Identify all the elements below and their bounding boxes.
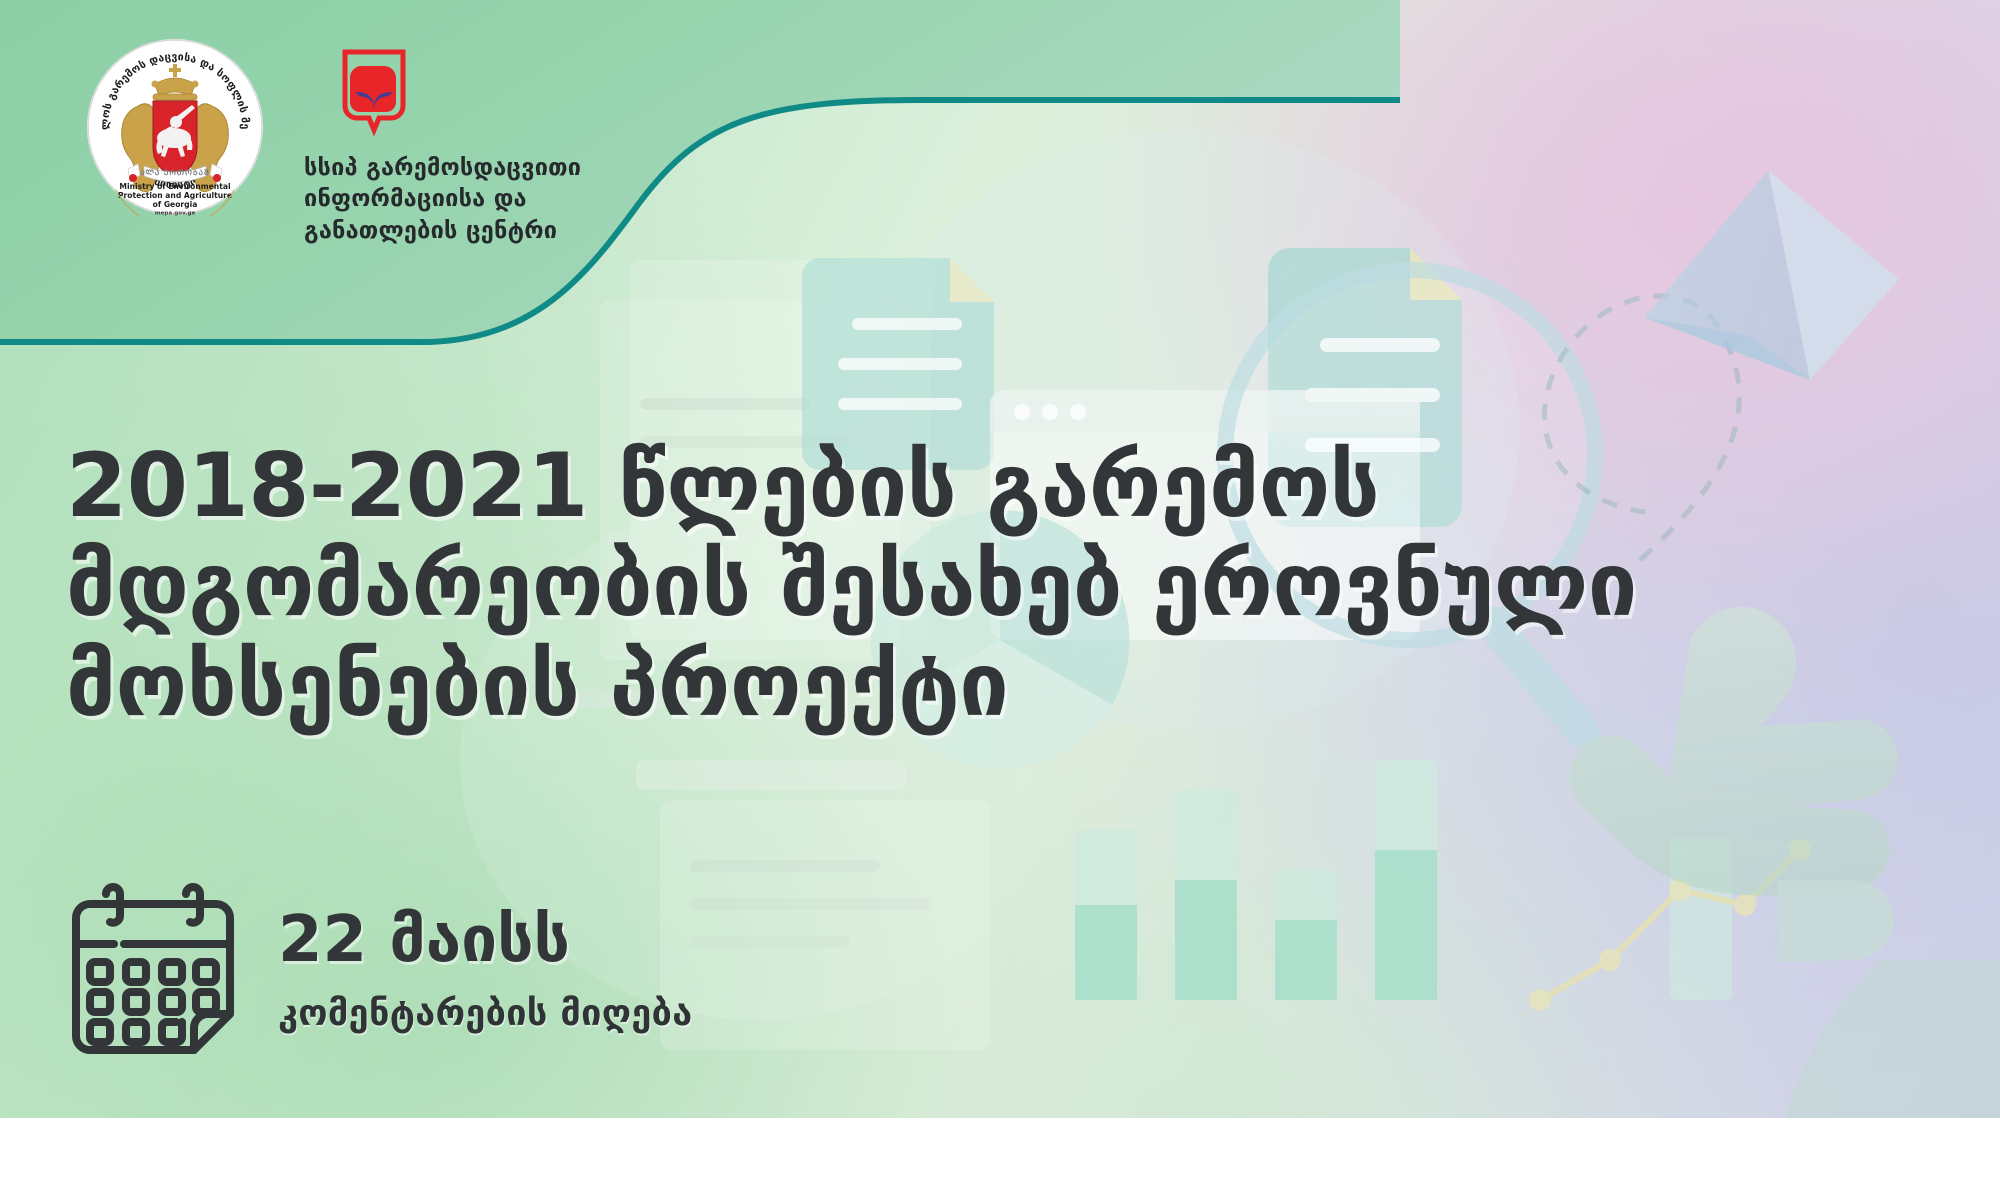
- deadline-date: 22 მაისს: [278, 908, 692, 972]
- svg-text:of Georgia: of Georgia: [153, 200, 198, 209]
- page-title: 2018-2021 წლების გარემოს მდგომარეობის შე…: [66, 436, 1896, 734]
- ministry-seal-logo[interactable]: საქართველოს გარემოს დაცვისა და სოფლის მე…: [86, 38, 264, 216]
- svg-text:Protection and Agriculture: Protection and Agriculture: [118, 191, 232, 200]
- svg-text:ᲫᲐᲚᲐ ᲔᲠᲗᲝᲑᲐᲨᲘ: ᲫᲐᲚᲐ ᲔᲠᲗᲝᲑᲐᲨᲘ: [134, 168, 215, 177]
- eiec-name-label: სსიპ გარემოსდაცვითი ინფორმაციისა და განა…: [304, 152, 581, 246]
- logo-row: საქართველოს გარემოს დაცვისა და სოფლის მე…: [86, 38, 581, 246]
- poster-canvas: საქართველოს გარემოს დაცვისა და სოფლის მე…: [0, 0, 2000, 1200]
- bottom-strip: [0, 1118, 2000, 1200]
- eiec-shield-book-logo[interactable]: [340, 48, 408, 136]
- eiec-logo-block: სსიპ გარემოსდაცვითი ინფორმაციისა და განა…: [304, 38, 581, 246]
- svg-text:Ministry of Environmental: Ministry of Environmental: [119, 182, 230, 191]
- deadline-block: 22 მაისს კომენტარების მიღება: [62, 880, 692, 1065]
- deadline-caption: კომენტარების მიღება: [278, 996, 692, 1032]
- calendar-icon: [62, 880, 244, 1065]
- svg-text:mepa.gov.ge: mepa.gov.ge: [155, 211, 196, 217]
- deadline-texts: 22 მაისს კომენტარების მიღება: [278, 908, 692, 1038]
